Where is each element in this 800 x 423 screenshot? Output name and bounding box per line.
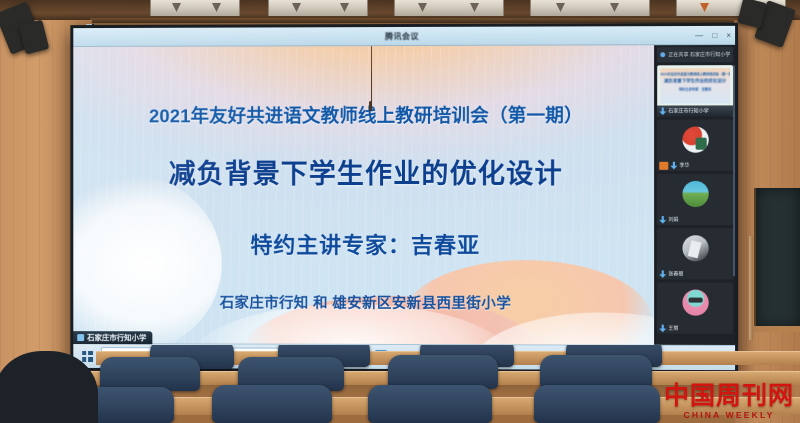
participant-tile[interactable]: 刘娟 [657, 174, 733, 225]
maximize-button[interactable]: □ [712, 31, 717, 39]
slide-event-title: 2021年友好共进语文教师线上教研培训会（第一期） [73, 102, 660, 129]
microphone-wire [371, 46, 372, 104]
watermark: 中国周刊网 CHINA WEEKLY [664, 384, 794, 420]
participant-tile[interactable]: 王丽 [657, 282, 733, 333]
ceiling-panel [530, 0, 650, 16]
window-title: 腾讯会议 [385, 30, 419, 41]
preview-line-3: 特约主讲专家：吉春亚 [660, 86, 730, 91]
seat [368, 385, 492, 423]
participant-name: 张春丽 [668, 270, 683, 277]
shared-slide: 2021年友好共进语文教师线上教研培训会（第一期） 减负背景下学生作业的优化设计… [73, 45, 660, 351]
avatar [682, 235, 708, 261]
microphone-icon [659, 216, 666, 224]
blackboard [754, 188, 800, 328]
seat [212, 385, 332, 423]
ceiling-panel [268, 0, 368, 16]
slide-speaker: 特约主讲专家：吉春亚 [73, 228, 660, 261]
microphone-tip [369, 101, 372, 111]
seat [540, 355, 652, 389]
powerpoint-window-tab[interactable]: 石家庄市行知小学 [73, 331, 152, 344]
window-titlebar: 腾讯会议 — □ × [73, 26, 735, 47]
tile-footer: 刘娟 [657, 214, 733, 225]
participant-tile[interactable]: 李华 [657, 119, 733, 170]
tile-footer: 王丽 [657, 323, 733, 334]
avatar [682, 290, 708, 316]
window-controls[interactable]: — □ × [695, 26, 731, 45]
participant-tile[interactable]: 张春丽 [657, 228, 733, 279]
slide-affiliation: 石家庄市行知 和 雄安新区安新县西里街小学 [73, 291, 660, 313]
projection-screen: 腾讯会议 — □ × 2021年友好共进语文教师线上教研培训会（第一期） 减负背… [70, 23, 738, 373]
screenshot-root: 腾讯会议 — □ × 2021年友好共进语文教师线上教研培训会（第一期） 减负背… [0, 0, 800, 423]
powerpoint-window-label: 石家庄市行知小学 [87, 332, 146, 343]
close-button[interactable]: × [726, 31, 731, 39]
participant-list-scrollbar[interactable] [733, 65, 735, 276]
microphone-icon [670, 161, 677, 169]
participant-name: 刘娟 [668, 216, 678, 223]
avatar [682, 127, 708, 153]
tile-footer: 张春丽 [657, 268, 733, 279]
ceiling-panel [150, 0, 240, 16]
minimize-button[interactable]: — [695, 32, 703, 40]
sharing-indicator-icon [660, 52, 665, 57]
sharing-status-text: 正在共享 石家庄市行知小学... [668, 51, 730, 58]
seat [100, 357, 200, 391]
presentation-icon [77, 334, 84, 341]
tile-footer: 石家庄市行知小学 [657, 105, 733, 116]
participant-name: 王丽 [668, 325, 678, 332]
seat [388, 355, 498, 389]
sharing-status-bar: 正在共享 石家庄市行知小学... [657, 47, 733, 62]
host-badge [659, 161, 668, 169]
pointer-stick [749, 236, 753, 340]
participant-name: 李华 [679, 162, 689, 169]
tile-footer: 李华 [657, 160, 733, 171]
microphone-icon [659, 324, 666, 332]
participant-name: 石家庄市行知小学 [668, 107, 708, 114]
audience-silhouette [0, 351, 98, 423]
preview-line-2: 减负背景下学生作业的优化设计 [660, 78, 730, 84]
slide-main-title: 减负背景下学生作业的优化设计 [73, 152, 660, 191]
shared-screen-thumbnail[interactable]: 2021年友好共进语文教师线上教研培训会（第一期） 减负背景下学生作业的优化设计… [657, 65, 733, 116]
avatar [682, 181, 708, 207]
watermark-english: CHINA WEEKLY [664, 411, 794, 420]
watermark-chinese: 中国周刊网 [664, 384, 794, 409]
seat [534, 385, 660, 423]
shared-screen-preview: 2021年友好共进语文教师线上教研培训会（第一期） 减负背景下学生作业的优化设计… [660, 68, 730, 103]
chalk-rail [752, 326, 800, 332]
preview-line-1: 2021年友好共进语文教师线上教研培训会（第一期） [660, 71, 730, 76]
microphone-icon [659, 107, 666, 115]
microphone-icon [659, 270, 666, 278]
ceiling-panel [394, 0, 504, 16]
meeting-participant-sidebar: 正在共享 石家庄市行知小学... 2021年友好共进语文教师线上教研培训会（第一… [654, 45, 735, 351]
